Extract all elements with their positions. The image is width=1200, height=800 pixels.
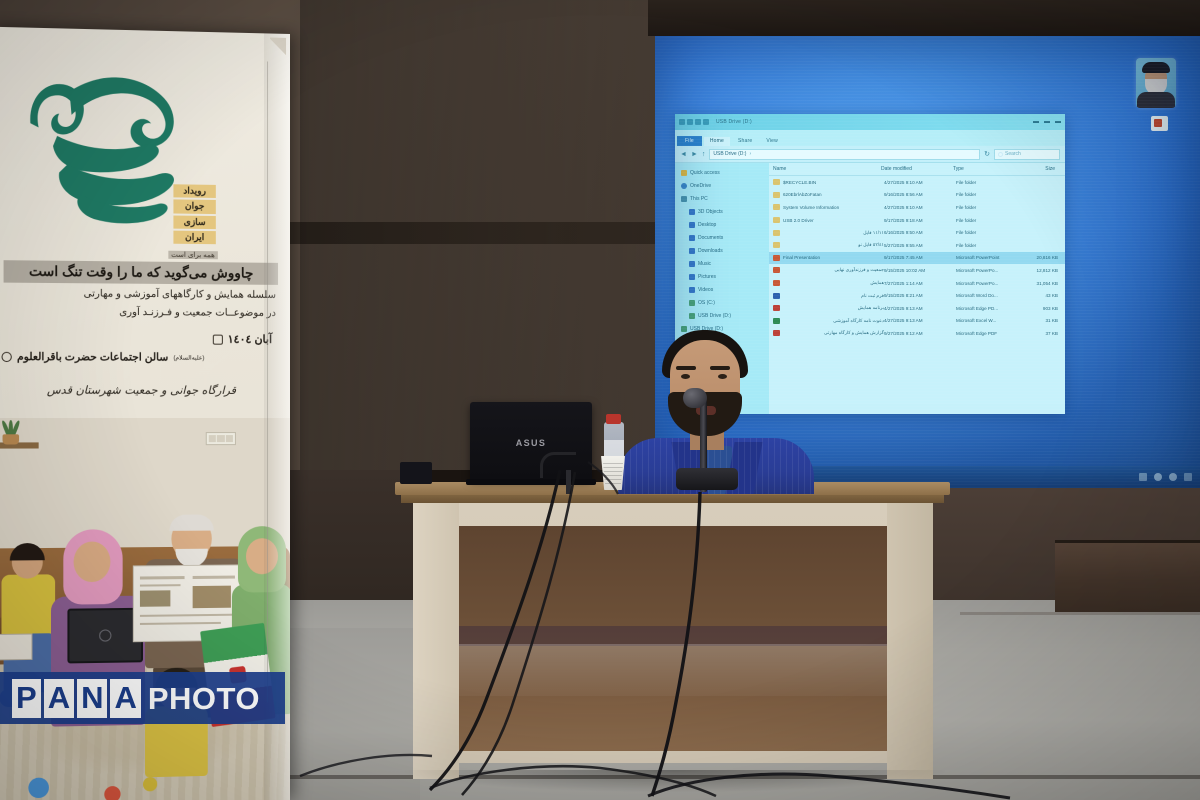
minimize-icon[interactable] bbox=[1033, 121, 1039, 123]
watermark-letter-a2: A bbox=[110, 679, 140, 718]
portrait-turban bbox=[1142, 62, 1170, 73]
file-row[interactable]: جمعیت و فرزندآوری نهایی9/15/2025 10:02 A… bbox=[769, 264, 1065, 277]
refresh-icon[interactable]: ↻ bbox=[984, 151, 990, 158]
ppt-icon bbox=[773, 255, 780, 261]
sidebar-item-label: Music bbox=[698, 261, 711, 267]
file-size: 43 KB bbox=[1018, 293, 1058, 298]
podium-right-leg bbox=[887, 503, 933, 779]
forward-icon[interactable]: ► bbox=[691, 151, 698, 158]
undo-icon[interactable] bbox=[687, 119, 693, 125]
secondary-microphone-stand bbox=[566, 470, 571, 494]
sidebar-item-8[interactable]: Pictures bbox=[678, 270, 769, 283]
system-tray[interactable] bbox=[1139, 473, 1195, 481]
portrait-robe bbox=[1137, 92, 1175, 108]
paper-cup-pattern bbox=[602, 462, 624, 484]
file-name: دعوت نامه کارگاه آموزشی bbox=[783, 318, 884, 324]
banner-keyword-0: رویداد bbox=[173, 184, 215, 198]
speaker-eyebrow-right bbox=[710, 366, 730, 370]
file-date-modified: 9/27/2025 9:12 AM bbox=[884, 331, 956, 336]
banner-subtitle-line1: سلسله همایش و کارگاههای آموزشی و مهارتی bbox=[6, 288, 276, 301]
column-header-type[interactable]: Type bbox=[953, 166, 1015, 172]
redo-icon[interactable] bbox=[695, 119, 701, 125]
drive-icon bbox=[689, 300, 695, 306]
banner-venue-suffix: (علیه‌السلام) bbox=[173, 354, 204, 361]
illustration-ball-red bbox=[104, 786, 120, 800]
file-date-modified: 9/15/2025 8:21 AM bbox=[884, 293, 956, 298]
sidebar-item-11[interactable]: USB Drive (D:) bbox=[678, 309, 769, 322]
banner-organizer: قرارگاه جوانی و جمعیت شهرستان قدس bbox=[20, 383, 262, 397]
sidebar-item-6[interactable]: Downloads bbox=[678, 244, 769, 257]
chevron-right-icon[interactable]: › bbox=[749, 151, 751, 157]
properties-icon[interactable] bbox=[703, 119, 709, 125]
sidebar-item-label: OneDrive bbox=[690, 183, 711, 189]
podium-desk bbox=[395, 482, 950, 800]
podium-panel-shadow bbox=[455, 626, 892, 646]
quick-access-toolbar[interactable] bbox=[679, 119, 709, 125]
maximize-icon[interactable] bbox=[1044, 121, 1050, 123]
ppt-icon bbox=[773, 267, 780, 273]
folder-icon bbox=[689, 287, 695, 293]
window-title: USB Drive (D:) bbox=[716, 119, 752, 125]
banner-tagline-small: همه برای است bbox=[168, 251, 218, 260]
podium-panel-highlight bbox=[455, 644, 892, 696]
ribbon-tab-file[interactable]: File bbox=[677, 136, 702, 146]
file-type: File folder bbox=[956, 230, 1018, 235]
file-date-modified: 9/16/2025 8:56 AM bbox=[884, 192, 956, 197]
close-icon[interactable] bbox=[1055, 121, 1061, 123]
folder-icon bbox=[689, 235, 695, 241]
file-date-modified: 9/15/2025 10:02 AM bbox=[884, 268, 956, 273]
file-size: 31 KB bbox=[1018, 318, 1058, 323]
column-header-size[interactable]: Size bbox=[1015, 166, 1055, 172]
file-type: Microsoft Word Do... bbox=[956, 293, 1018, 298]
search-input[interactable]: Search bbox=[994, 149, 1060, 160]
illustration-laptop bbox=[67, 608, 143, 664]
file-date-modified: 6/16/2025 9:50 AM bbox=[884, 230, 956, 235]
banner-keyword-1: جوان bbox=[173, 200, 215, 214]
file-date-modified: 9/17/2025 9:18 AM bbox=[884, 218, 956, 223]
illustration-light-switch bbox=[206, 432, 236, 445]
sidebar-item-9[interactable]: Videos bbox=[678, 283, 769, 296]
file-row[interactable]: System Volume Information4/27/2025 9:10 … bbox=[769, 201, 1065, 214]
speaker-eye-right bbox=[718, 374, 727, 379]
file-name: ۱۱/۱۱ فایل bbox=[783, 230, 884, 236]
sidebar-item-label: Documents bbox=[698, 235, 723, 241]
sidebar-item-label: 3D Objects bbox=[698, 209, 723, 215]
clock-icon[interactable] bbox=[1184, 473, 1192, 481]
ribbon-tab-bar[interactable]: File Home Share View bbox=[675, 130, 1065, 146]
up-icon[interactable]: ↑ bbox=[702, 151, 706, 158]
pdf-icon bbox=[773, 305, 780, 311]
leader-portrait-icon[interactable] bbox=[1136, 58, 1176, 108]
file-type: Microsoft Edge PD... bbox=[956, 306, 1018, 311]
file-type: File folder bbox=[956, 243, 1018, 248]
file-type: Microsoft PowerPoint bbox=[956, 255, 1018, 260]
projection-screen-housing bbox=[648, 0, 1200, 36]
banner-venue-text: سالن اجتماعات حضرت باقرالعلوم bbox=[17, 351, 168, 364]
folder-icon bbox=[773, 230, 780, 236]
file-date-modified: 4/27/2025 9:10 AM bbox=[884, 205, 956, 210]
volume-icon[interactable] bbox=[1154, 473, 1162, 481]
audio-box bbox=[400, 462, 432, 484]
ribbon-tab-share[interactable]: Share bbox=[732, 137, 758, 146]
search-icon bbox=[998, 152, 1003, 157]
address-input[interactable]: USB Drive (D:) › bbox=[709, 149, 980, 160]
application-shortcut-icon[interactable] bbox=[1151, 116, 1168, 131]
file-type: Microsoft Excel W... bbox=[956, 318, 1018, 323]
sidebar-item-5[interactable]: Documents bbox=[678, 231, 769, 244]
file-row[interactable]: برنامه همایش4/27/2025 9:13 AMMicrosoft E… bbox=[769, 302, 1065, 315]
file-row[interactable]: دعوت نامه کارگاه آموزشی4/27/2025 9:13 AM… bbox=[769, 315, 1065, 328]
water-bottle-label bbox=[604, 440, 624, 456]
file-type: File folder bbox=[956, 205, 1018, 210]
speaker-eyebrow-left bbox=[676, 366, 696, 370]
calendar-icon bbox=[213, 334, 223, 344]
sidebar-item-label: Videos bbox=[698, 287, 713, 293]
file-row[interactable]: ۱۱/۱۱ فایل6/16/2025 9:50 AMFile folder bbox=[769, 226, 1065, 239]
podium-center-panel bbox=[455, 526, 892, 751]
folder-icon bbox=[689, 248, 695, 254]
banner-subtitle-line2: در موضوعــات جمعیت و فـرزنـد آوری bbox=[6, 306, 276, 319]
file-list[interactable]: $RECYCLE.BIN4/27/2025 9:10 AMFile folder… bbox=[769, 176, 1065, 340]
folder-icon bbox=[773, 217, 780, 223]
file-name: فرم ثبت نام bbox=[783, 293, 884, 299]
folder-icon bbox=[689, 209, 695, 215]
banner-family-illustration bbox=[0, 418, 290, 800]
file-name: جمعیت و فرزندآوری نهایی bbox=[783, 267, 884, 273]
watermark: P A N A PHOTO bbox=[0, 672, 285, 724]
column-header-name[interactable]: Name bbox=[773, 166, 881, 172]
watermark-photo-text: PHOTO bbox=[148, 683, 260, 714]
save-icon[interactable] bbox=[679, 119, 685, 125]
podium-left-leg bbox=[413, 503, 459, 779]
ribbon-tab-home[interactable]: Home bbox=[704, 137, 730, 146]
file-type: Microsoft Edge PDF bbox=[956, 331, 1018, 336]
speaker-eye-left bbox=[681, 374, 690, 379]
sidebar-item-label: Quick access bbox=[690, 170, 720, 176]
sidebar-item-label: USB Drive (D:) bbox=[698, 313, 731, 319]
sidebar-item-0[interactable]: Quick access bbox=[678, 166, 769, 179]
file-size: 37 KB bbox=[1018, 331, 1058, 336]
water-bottle-cap bbox=[606, 414, 621, 424]
folder-icon bbox=[773, 242, 780, 248]
file-date-modified: 4/27/2025 9:13 AM bbox=[884, 306, 956, 311]
cloud-icon bbox=[681, 183, 687, 189]
sidebar-item-1[interactable]: OneDrive bbox=[678, 179, 769, 192]
file-name: 620EbrlAbZoFatan bbox=[783, 192, 884, 197]
file-name: USB 2.0 Driver bbox=[783, 218, 884, 223]
microphone-head bbox=[683, 388, 707, 408]
word-icon bbox=[773, 293, 780, 299]
file-name: $RECYCLE.BIN bbox=[783, 180, 884, 185]
back-icon[interactable]: ◄ bbox=[680, 151, 687, 158]
sidebar-item-label: Pictures bbox=[698, 274, 716, 280]
battery-icon[interactable] bbox=[1169, 473, 1177, 481]
photo-scene: USB Drive (D:) File Home Share View ◄ ► … bbox=[0, 0, 1200, 800]
network-icon[interactable] bbox=[1139, 473, 1147, 481]
wall-baseboard-right bbox=[1055, 540, 1200, 612]
file-date-modified: 4/27/2025 9:13 AM bbox=[884, 318, 956, 323]
file-name: همایش bbox=[783, 280, 884, 286]
file-type: Microsoft PowerPo... bbox=[956, 281, 1018, 286]
address-text: USB Drive (D:) bbox=[713, 151, 746, 157]
sidebar-item-3[interactable]: 3D Objects bbox=[678, 205, 769, 218]
banner-keyword-3: ایران bbox=[173, 230, 215, 244]
pc-icon bbox=[681, 196, 687, 202]
address-bar-row[interactable]: ◄ ► ↑ USB Drive (D:) › ↻ Search bbox=[675, 146, 1065, 163]
sidebar-item-10[interactable]: OS (C:) bbox=[678, 296, 769, 309]
podium-top-edge bbox=[401, 495, 944, 503]
laptop-hinge bbox=[466, 479, 596, 485]
watermark-letter-n: N bbox=[77, 679, 107, 718]
file-date-modified: 5/27/2025 9:55 AM bbox=[884, 243, 956, 248]
file-name: Final Presentation bbox=[783, 255, 884, 260]
banner-keyword-2: سازی bbox=[173, 215, 215, 229]
file-size: 903 KB bbox=[1018, 306, 1058, 311]
file-date-modified: 7/27/2025 1:14 AM bbox=[884, 281, 956, 286]
laptop-brand-label: ASUS bbox=[516, 438, 547, 448]
file-row[interactable]: همایش7/27/2025 1:14 AMMicrosoft PowerPo.… bbox=[769, 277, 1065, 290]
file-row[interactable]: 620EbrlAbZoFatan9/16/2025 8:56 AMFile fo… bbox=[769, 189, 1065, 202]
column-header-date[interactable]: Date modified bbox=[881, 166, 953, 172]
sidebar-item-label: Downloads bbox=[698, 248, 723, 254]
ribbon-tab-view[interactable]: View bbox=[760, 137, 784, 146]
sidebar-item-4[interactable]: Desktop bbox=[678, 218, 769, 231]
ppt-icon bbox=[773, 280, 780, 286]
file-date-modified: 9/17/2025 7:45 AM bbox=[884, 255, 956, 260]
file-row[interactable]: USB 2.0 Driver9/17/2025 9:18 AMFile fold… bbox=[769, 214, 1065, 227]
file-row[interactable]: ۱٤/۲٥ فایل نو5/27/2025 9:55 AMFile folde… bbox=[769, 239, 1065, 252]
microphone-base bbox=[676, 468, 738, 490]
location-pin-icon bbox=[1, 352, 11, 362]
explorer-title-bar[interactable]: USB Drive (D:) bbox=[675, 114, 1065, 130]
sidebar-item-label: This PC bbox=[690, 196, 708, 202]
banner-venue-row: (علیه‌السلام) سالن اجتماعات حضرت باقرالع… bbox=[1, 351, 272, 364]
file-size: 31,054 KB bbox=[1018, 281, 1058, 286]
column-header-row[interactable]: Name Date modified Type Size bbox=[769, 163, 1065, 176]
search-placeholder-text: Search bbox=[1005, 151, 1021, 157]
file-name: System Volume Information bbox=[783, 205, 884, 210]
watermark-letter-a1: A bbox=[44, 679, 74, 718]
xls-icon bbox=[773, 318, 780, 324]
sidebar-item-label: OS (C:) bbox=[698, 300, 715, 306]
sidebar-item-label: Desktop bbox=[698, 222, 716, 228]
sidebar-item-2[interactable]: This PC bbox=[678, 192, 769, 205]
folder-icon bbox=[689, 274, 695, 280]
banner-corner-fold bbox=[270, 38, 286, 56]
watermark-letter-p: P bbox=[12, 679, 41, 718]
file-type: File folder bbox=[956, 180, 1018, 185]
banner-tagline-main: چاووش می‌گوید که ما را وقت تنگ است bbox=[4, 260, 278, 284]
file-row[interactable]: Final Presentation9/17/2025 7:45 AMMicro… bbox=[769, 252, 1065, 265]
file-type: File folder bbox=[956, 192, 1018, 197]
file-type: File folder bbox=[956, 218, 1018, 223]
file-row[interactable]: $RECYCLE.BIN4/27/2025 9:10 AMFile folder bbox=[769, 176, 1065, 189]
floor-seam-upper bbox=[960, 612, 1200, 615]
file-name: برنامه همایش bbox=[783, 305, 884, 311]
folder-icon bbox=[773, 204, 780, 210]
window-controls[interactable] bbox=[1033, 121, 1061, 123]
illustration-plant-left bbox=[0, 420, 26, 444]
star-icon bbox=[681, 170, 687, 176]
file-date-modified: 4/27/2025 9:10 AM bbox=[884, 180, 956, 185]
file-row[interactable]: فرم ثبت نام9/15/2025 8:21 AMMicrosoft Wo… bbox=[769, 289, 1065, 302]
folder-icon bbox=[773, 192, 780, 198]
podium-floor-shadow bbox=[405, 770, 945, 792]
file-size: 20,816 KB bbox=[1018, 255, 1058, 260]
folder-icon bbox=[689, 261, 695, 267]
file-name: ۱٤/۲٥ فایل نو bbox=[783, 242, 884, 248]
folder-icon bbox=[689, 222, 695, 228]
sidebar-item-7[interactable]: Music bbox=[678, 257, 769, 270]
file-type: Microsoft PowerPo... bbox=[956, 268, 1018, 273]
banner-keyword-list: رویدادجوانسازیایران bbox=[173, 184, 215, 244]
drive-icon bbox=[689, 313, 695, 319]
file-size: 12,812 KB bbox=[1018, 268, 1058, 273]
folder-icon bbox=[773, 179, 780, 185]
